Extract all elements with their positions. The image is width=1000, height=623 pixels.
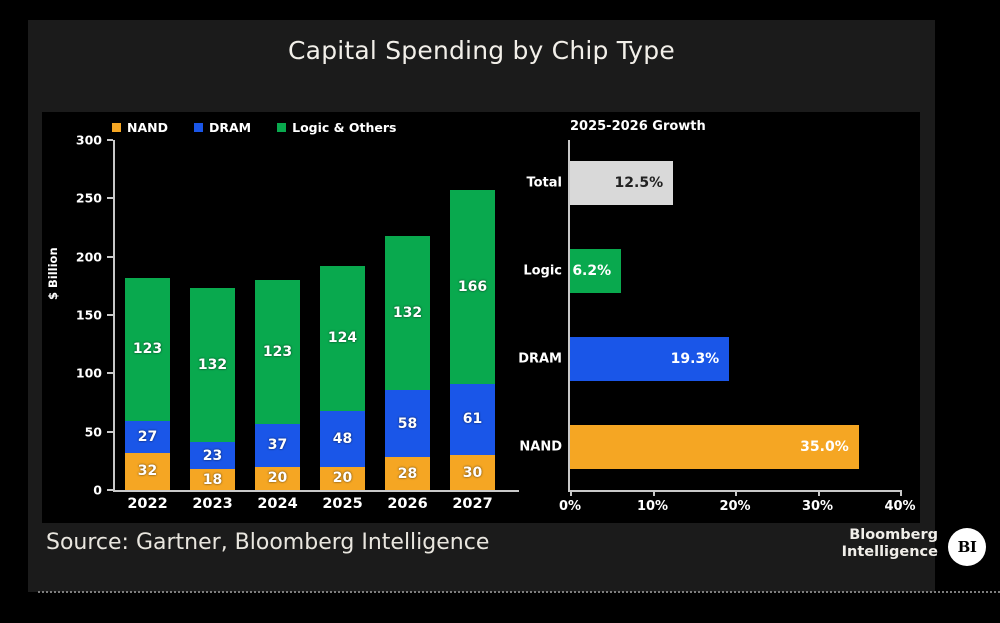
bar-value-label: 28 [398, 466, 417, 482]
bar-segment-dram[interactable]: 23 [190, 442, 235, 469]
bloomberg-intelligence-wordmark: Bloomberg Intelligence [842, 527, 938, 561]
bar-value-label: 32 [138, 463, 157, 479]
x-axis-tick-label: 2025 [313, 496, 373, 512]
bar-segment-nand[interactable]: 20 [255, 467, 300, 490]
bar-segment-logic[interactable]: 123 [255, 280, 300, 424]
bar-group[interactable]: 1233720 [255, 280, 300, 490]
legend-item-dram[interactable]: DRAM [194, 120, 251, 135]
bar-group[interactable]: 1325828 [385, 236, 430, 490]
growth-row-label: NAND [482, 440, 562, 455]
growth-bar-value-label: 6.2% [572, 263, 611, 279]
legend-item-nand[interactable]: NAND [112, 120, 168, 135]
bar-value-label: 124 [328, 330, 357, 346]
y-axis-tick-label: 200 [60, 249, 102, 264]
y-axis-tick-label: 300 [60, 133, 102, 148]
y-axis-label: $ Billion [46, 247, 60, 300]
growth-bar-total[interactable]: 12.5% [570, 161, 673, 205]
source-note: Source: Gartner, Bloomberg Intelligence [46, 530, 489, 555]
bar-segment-logic[interactable]: 132 [190, 288, 235, 442]
chart-screenshot: Capital Spending by Chip Type NANDDRAMLo… [0, 0, 1000, 623]
brand-line-2: Intelligence [842, 544, 938, 561]
legend-swatch-icon [112, 123, 121, 132]
y-axis-tick-label: 0 [60, 483, 102, 498]
x-axis-tick-label: 2023 [183, 496, 243, 512]
x-axis-tick-label: 2026 [378, 496, 438, 512]
bi-logo-text: BI [958, 538, 977, 556]
bar-value-label: 20 [268, 470, 287, 486]
growth-x-axis-tick [735, 490, 737, 496]
growth-x-axis-tick-label: 10% [623, 499, 683, 514]
growth-x-axis-tick-label: 30% [788, 499, 848, 514]
growth-bar-value-label: 19.3% [671, 351, 720, 367]
bar-value-label: 37 [268, 437, 287, 453]
x-axis-spine [113, 490, 519, 492]
y-axis-tick-label: 250 [60, 191, 102, 206]
x-axis-tick-label: 2022 [118, 496, 178, 512]
bar-segment-dram[interactable]: 48 [320, 411, 365, 467]
legend-swatch-icon [194, 123, 203, 132]
card-bottom-dotted-rule [38, 591, 1000, 593]
bar-group[interactable]: 1232732 [125, 278, 170, 490]
bar-value-label: 132 [198, 357, 227, 373]
bar-value-label: 58 [398, 416, 417, 432]
growth-x-axis-tick-label: 0% [540, 499, 600, 514]
y-axis-tick-label: 50 [60, 424, 102, 439]
bar-segment-dram[interactable]: 37 [255, 424, 300, 467]
bar-value-label: 61 [463, 411, 482, 427]
bar-segment-nand[interactable]: 30 [450, 455, 495, 490]
bar-segment-logic[interactable]: 132 [385, 236, 430, 390]
bar-segment-logic[interactable]: 124 [320, 266, 365, 411]
x-axis-tick-label: 2024 [248, 496, 308, 512]
bar-segment-dram[interactable]: 58 [385, 390, 430, 458]
growth-x-axis-tick-label: 20% [705, 499, 765, 514]
bar-value-label: 166 [458, 279, 487, 295]
bar-value-label: 123 [263, 344, 292, 360]
page-title: Capital Spending by Chip Type [28, 36, 935, 65]
growth-row-label: DRAM [482, 352, 562, 367]
stacked-bars: 1232732132231812337201244820132582816661… [113, 140, 523, 490]
y-axis-tick-label: 150 [60, 308, 102, 323]
growth-x-axis-tick [653, 490, 655, 496]
growth-bar-value-label: 12.5% [615, 175, 664, 191]
bar-value-label: 20 [333, 470, 352, 486]
growth-bar-logic[interactable]: 6.2% [570, 249, 621, 293]
bar-segment-logic[interactable]: 123 [125, 278, 170, 422]
growth-bar-nand[interactable]: 35.0% [570, 425, 859, 469]
bar-segment-dram[interactable]: 27 [125, 421, 170, 453]
growth-row-label: Total [482, 176, 562, 191]
legend-swatch-icon [277, 123, 286, 132]
legend-label: DRAM [209, 120, 251, 135]
bi-logo-icon: BI [948, 528, 986, 566]
legend: NANDDRAMLogic & Others [112, 120, 397, 135]
bar-value-label: 30 [463, 465, 482, 481]
bar-group[interactable]: 1322318 [190, 288, 235, 490]
bar-value-label: 18 [203, 472, 222, 488]
y-axis-tick-label: 100 [60, 366, 102, 381]
bar-segment-nand[interactable]: 18 [190, 469, 235, 490]
bar-segment-nand[interactable]: 32 [125, 453, 170, 490]
growth-x-axis-spine [568, 490, 900, 492]
bar-group[interactable]: 1244820 [320, 266, 365, 490]
bar-segment-nand[interactable]: 20 [320, 467, 365, 490]
growth-x-axis-tick-label: 40% [870, 499, 930, 514]
bar-value-label: 27 [138, 429, 157, 445]
legend-item-logic[interactable]: Logic & Others [277, 120, 396, 135]
growth-bar-value-label: 35.0% [800, 439, 849, 455]
bar-value-label: 48 [333, 431, 352, 447]
growth-bar-dram[interactable]: 19.3% [570, 337, 729, 381]
bar-value-label: 123 [133, 341, 162, 357]
x-axis-tick-label: 2027 [443, 496, 503, 512]
growth-x-axis-tick [570, 490, 572, 496]
bar-value-label: 132 [393, 305, 422, 321]
growth-row-label: Logic [482, 264, 562, 279]
legend-label: NAND [127, 120, 168, 135]
growth-x-axis-tick [900, 490, 902, 496]
brand-line-1: Bloomberg [842, 527, 938, 544]
bar-value-label: 23 [203, 448, 222, 464]
growth-x-axis-tick [818, 490, 820, 496]
growth-chart-title: 2025-2026 Growth [570, 119, 706, 134]
legend-label: Logic & Others [292, 120, 396, 135]
bar-segment-nand[interactable]: 28 [385, 457, 430, 490]
